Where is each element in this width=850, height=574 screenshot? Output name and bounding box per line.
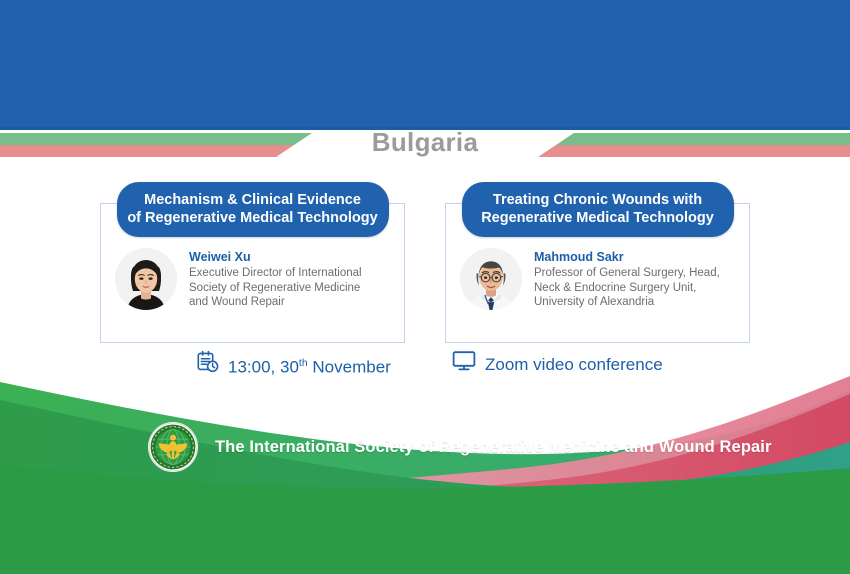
speaker-role-line3: and Wound Repair: [189, 295, 362, 310]
session-title-1-line1: Mechanism & Clinical Evidence: [125, 191, 381, 209]
footer-bar: The International Society of Regenerativ…: [0, 418, 850, 476]
speaker-role: Executive Director of International Soci…: [189, 266, 362, 310]
country-title: Bulgaria: [0, 126, 850, 158]
speaker-info-2: Mahmoud Sakr Professor of General Surger…: [534, 248, 720, 310]
speaker-role-line3: University of Alexandria: [534, 295, 720, 310]
session-title-2-line2: Regenerative Medical Technology: [470, 209, 726, 227]
date-ordinal: th: [299, 357, 308, 369]
speaker-info-1: Weiwei Xu Executive Director of Internat…: [189, 248, 362, 310]
session-title-1-line2: of Regenerative Medical Technology: [125, 209, 381, 227]
session-title-2-line1: Treating Chronic Wounds with: [470, 191, 726, 209]
session-title-2: Treating Chronic Wounds with Regenerativ…: [462, 182, 734, 237]
society-emblem-logo: [147, 421, 199, 473]
session-card-2: Treating Chronic Wounds with Regenerativ…: [445, 203, 750, 343]
session-card-2-body: Mahmoud Sakr Professor of General Surger…: [446, 248, 749, 310]
speaker-role-line2: Neck & Endocrine Surgery Unit,: [534, 281, 720, 296]
event-poster: Bulgaria Mechanism & Clinical Evidence o…: [0, 0, 850, 574]
speaker-role-line1: Professor of General Surgery, Head,: [534, 266, 720, 281]
organization-name: The International Society of Regenerativ…: [215, 437, 772, 457]
session-card-1-body: Weiwei Xu Executive Director of Internat…: [101, 248, 404, 310]
session-card-1: Mechanism & Clinical Evidence of Regener…: [100, 203, 405, 343]
avatar: [460, 248, 522, 310]
speaker-name: Mahmoud Sakr: [534, 249, 720, 265]
speaker-role: Professor of General Surgery, Head, Neck…: [534, 266, 720, 310]
top-blue-band: [0, 0, 850, 127]
speaker-name: Weiwei Xu: [189, 249, 362, 265]
avatar: [115, 248, 177, 310]
speaker-role-line1: Executive Director of International: [189, 266, 362, 281]
session-title-1: Mechanism & Clinical Evidence of Regener…: [117, 182, 389, 237]
speaker-role-line2: Society of Regenerative Medicine: [189, 281, 362, 296]
